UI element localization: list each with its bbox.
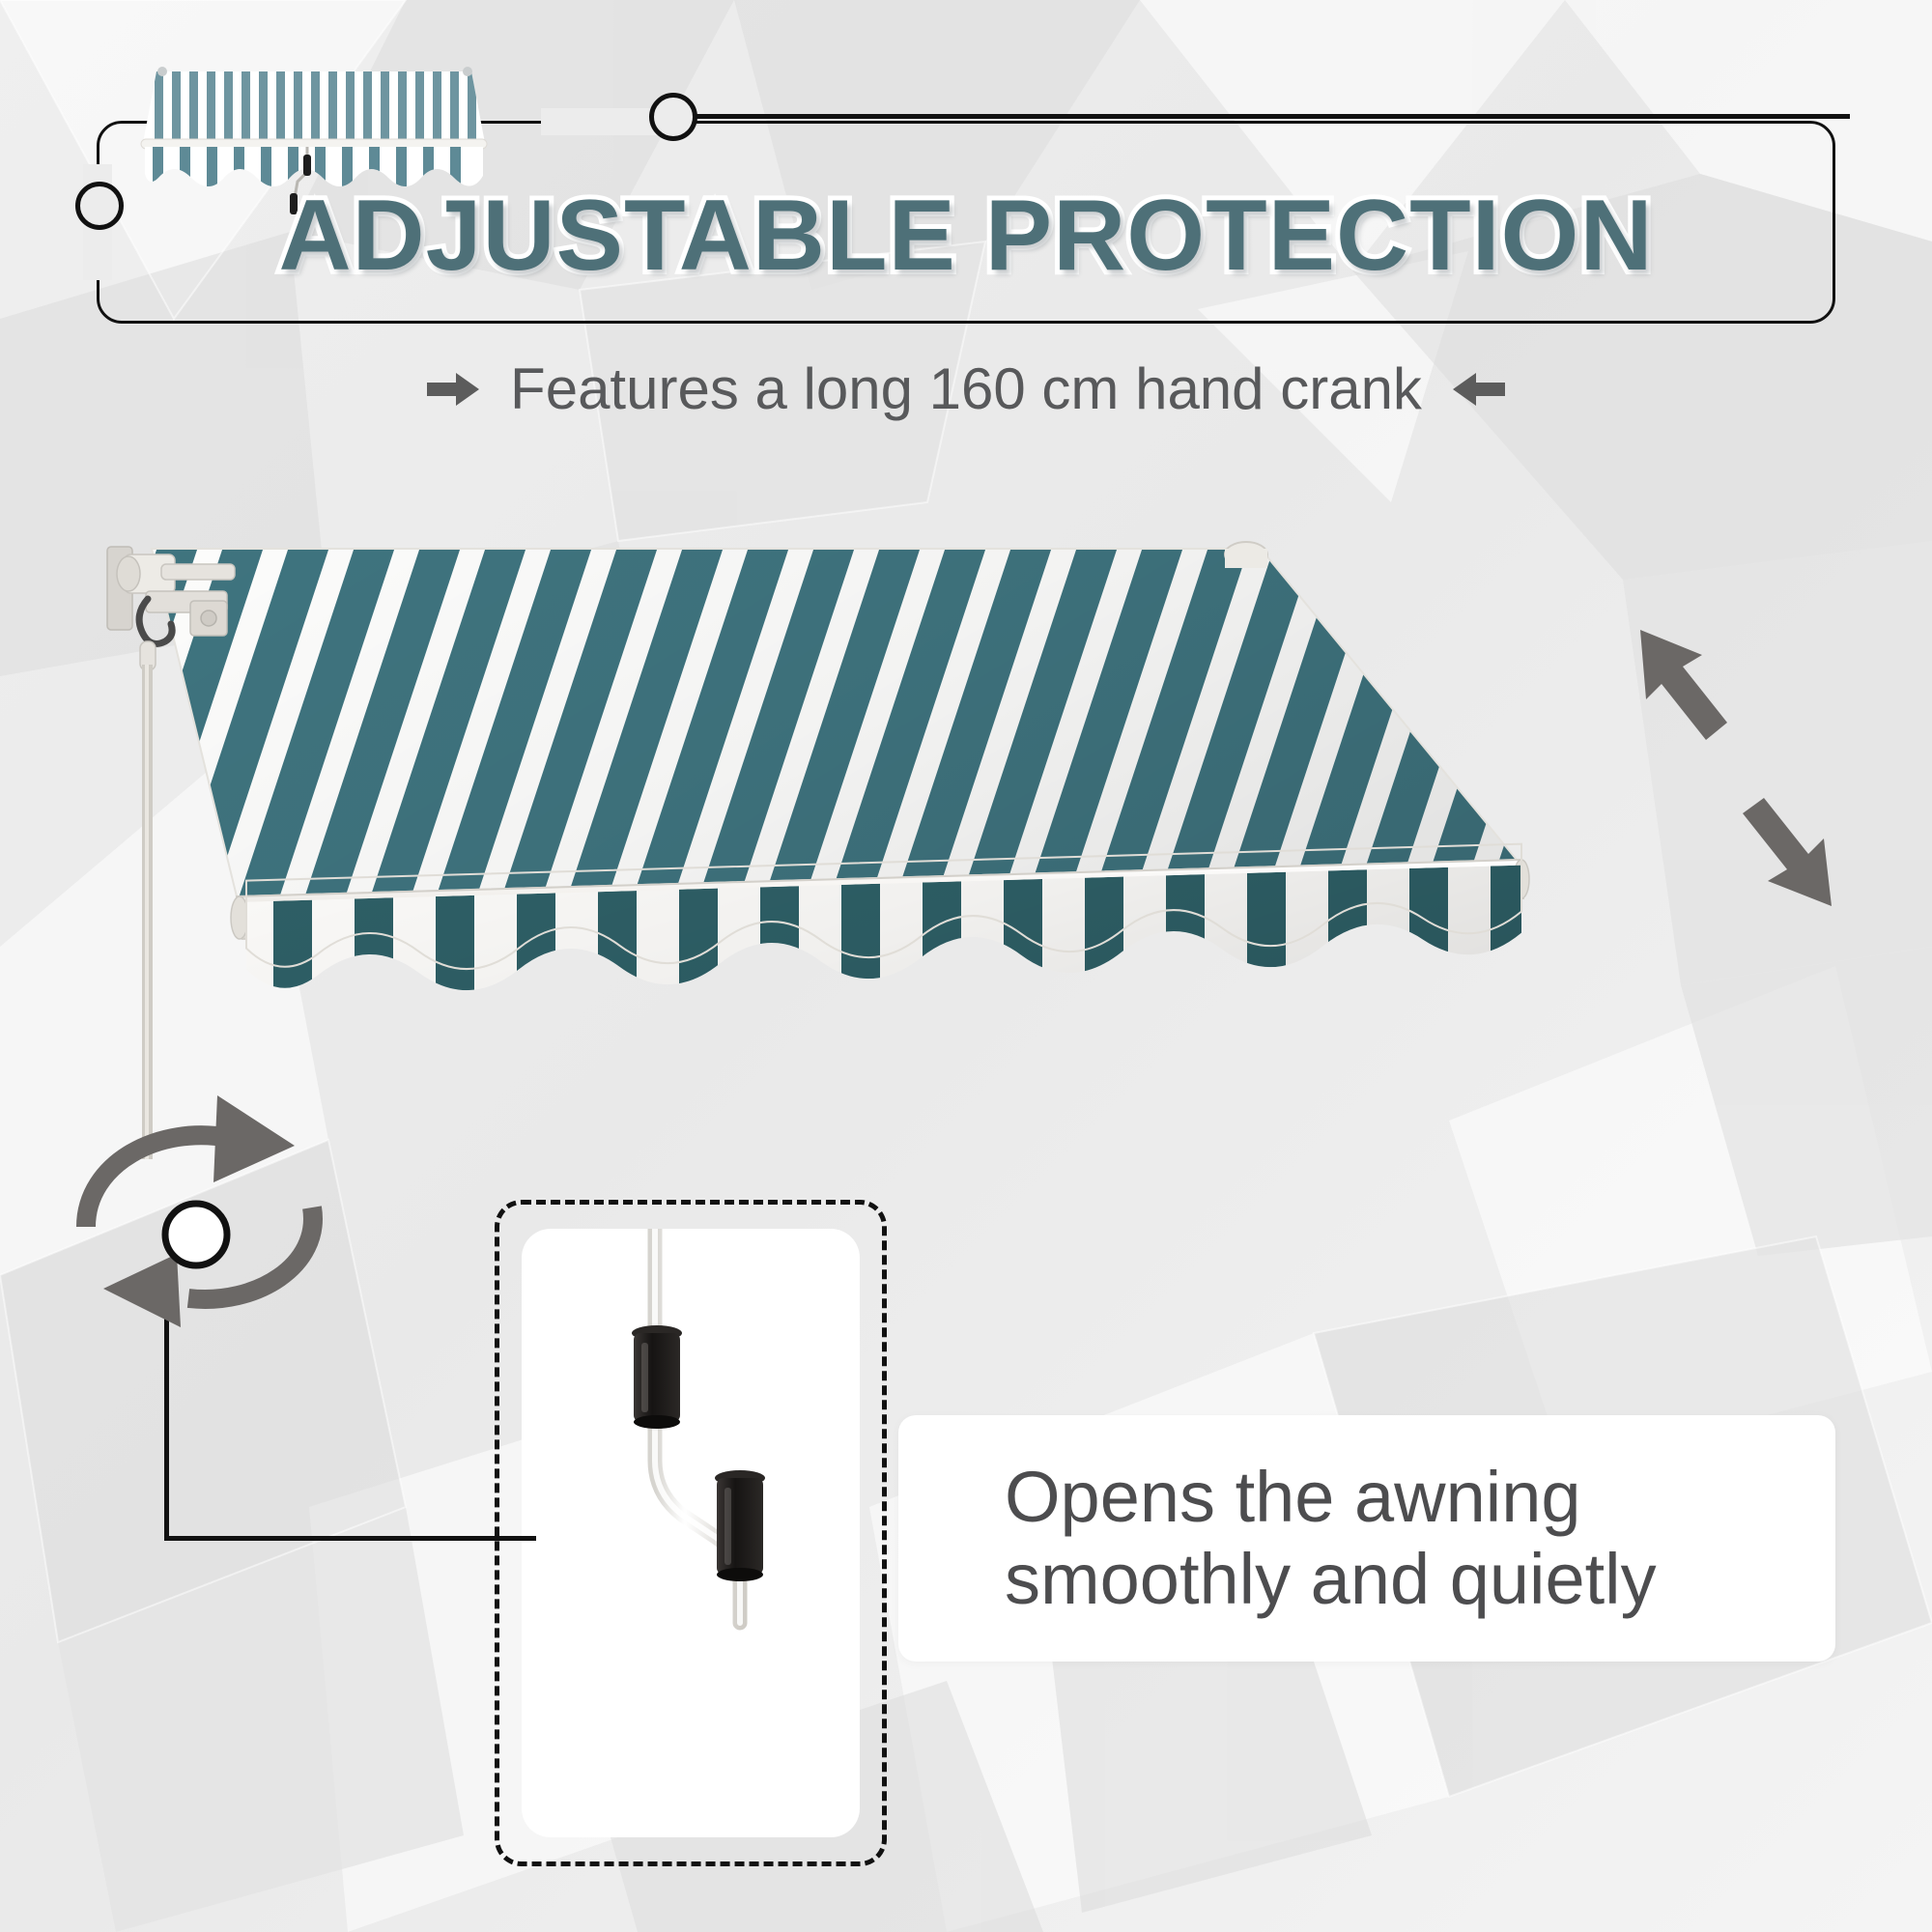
arrow-right-icon <box>427 370 481 409</box>
arrow-down-right-icon <box>1743 798 1832 906</box>
panel-line-1: Opens the awning <box>1005 1457 1835 1538</box>
poster-canvas: ADJUSTABLE PROTECTION Features a long 16… <box>0 0 1932 1932</box>
arrow-left-icon <box>1451 370 1505 409</box>
arrow-up-left-icon <box>1640 630 1727 740</box>
crank-grip-lower <box>715 1470 765 1581</box>
page-title: ADJUSTABLE PROTECTION <box>0 179 1932 294</box>
subtitle-row: Features a long 160 cm hand crank <box>0 355 1932 422</box>
retractable-awning <box>101 541 1666 1159</box>
feature-text-panel: Opens the awning smoothly and quietly <box>898 1415 1835 1662</box>
connector-node-top <box>649 93 697 141</box>
panel-line-2: smoothly and quietly <box>1005 1539 1835 1620</box>
connector-line-top <box>696 114 1850 119</box>
rotate-clockwise-icon <box>53 1082 343 1401</box>
extend-retract-arrows <box>1633 618 1903 927</box>
connector-line-horizontal <box>164 1536 536 1541</box>
subtitle-text: Features a long 160 cm hand crank <box>510 355 1422 422</box>
hand-crank-closeup <box>541 1229 850 1837</box>
crank-grip-upper <box>632 1325 682 1429</box>
